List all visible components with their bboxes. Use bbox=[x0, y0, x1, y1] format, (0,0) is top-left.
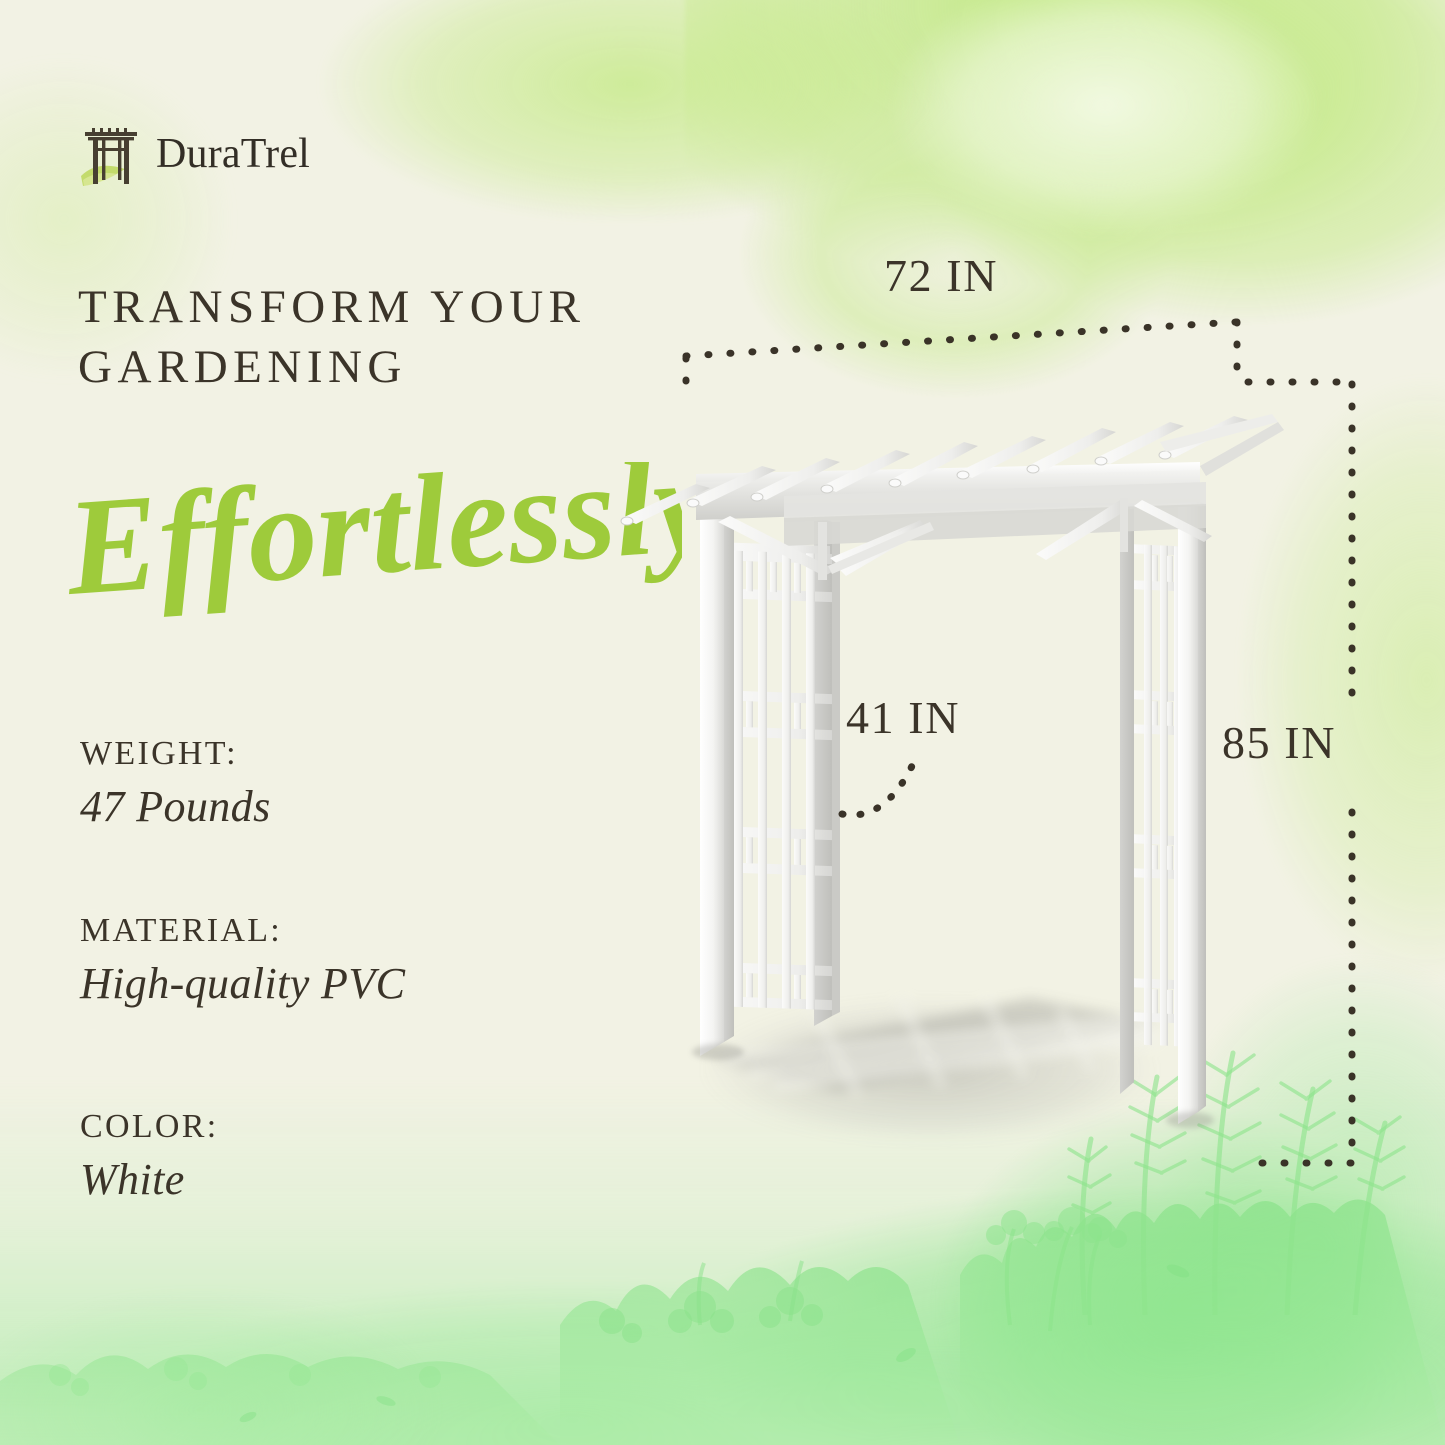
brand-logo[interactable]: DuraTrel bbox=[80, 122, 310, 186]
dimline-width-horizontal bbox=[686, 322, 1236, 356]
script-accent-word: Effortlessly. bbox=[62, 462, 682, 662]
headline-line-2: Gardening bbox=[78, 341, 407, 393]
dimension-label-height: 85 IN bbox=[1222, 716, 1336, 769]
dimension-label-depth: 41 IN bbox=[846, 691, 960, 744]
infographic-canvas: DuraTrel Transform your Gardening Effort… bbox=[0, 0, 1445, 1445]
left-lattice-panel bbox=[700, 510, 840, 1056]
page-title: Transform your Gardening bbox=[78, 277, 678, 397]
headline-line-1: Transform your bbox=[78, 281, 585, 333]
dimension-label-width: 72 IN bbox=[884, 249, 998, 302]
spec-weight-value: 47 Pounds bbox=[80, 781, 271, 832]
spec-weight: WEIGHT: 47 Pounds bbox=[80, 735, 271, 832]
watercolor-wash-bottom-left bbox=[0, 1205, 480, 1445]
watercolor-highlight-top-right bbox=[825, 0, 1385, 270]
right-lattice-panel bbox=[1120, 488, 1206, 1124]
spec-weight-label: WEIGHT: bbox=[80, 735, 271, 773]
spec-color-label: COLOR: bbox=[80, 1108, 218, 1146]
spec-color-value: White bbox=[80, 1154, 218, 1205]
pergola-arbor-icon bbox=[80, 122, 142, 186]
spec-material-label: MATERIAL: bbox=[80, 912, 405, 950]
script-text: Effortlessly. bbox=[62, 462, 682, 624]
product-image-pergola-arbor bbox=[600, 370, 1300, 1200]
spec-material-value: High-quality PVC bbox=[80, 958, 405, 1009]
spec-material: MATERIAL: High-quality PVC bbox=[80, 912, 405, 1009]
watercolor-wash-top-edge bbox=[250, 0, 1010, 220]
spec-color: COLOR: White bbox=[80, 1108, 218, 1205]
brand-name: DuraTrel bbox=[156, 130, 310, 178]
